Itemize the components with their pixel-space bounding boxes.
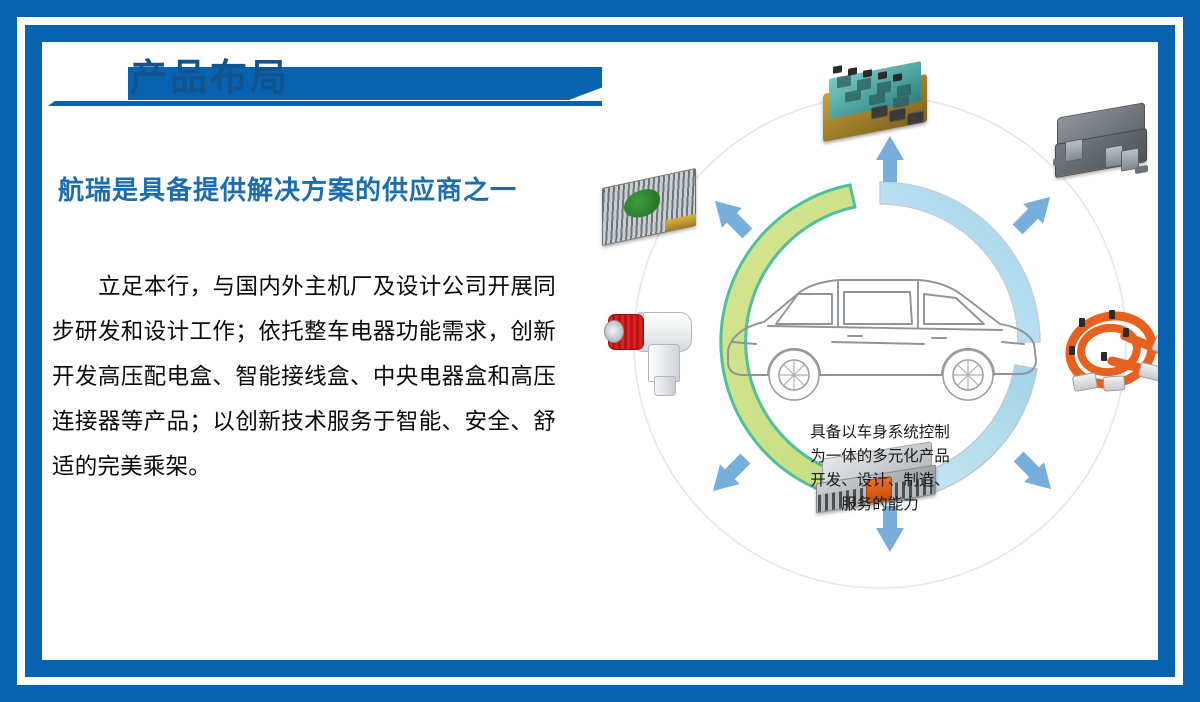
arrow-up-icon bbox=[876, 136, 904, 182]
slide-canvas: 产品布局 航瑞是具备提供解决方案的供应商之一 立足本行，与国内外主机厂及设计公司… bbox=[42, 42, 1158, 660]
diagram-center-caption: 具备以车身系统控制 为一体的多元化产品 开发、设计、制造、 服务的能力 bbox=[770, 420, 990, 516]
page-title: 产品布局 bbox=[130, 47, 290, 101]
product-finned-ecu-module bbox=[596, 164, 706, 250]
product-junction-box bbox=[1047, 100, 1158, 192]
section-subtitle: 航瑞是具备提供解决方案的供应商之一 bbox=[58, 170, 517, 207]
body-paragraph: 立足本行，与国内外主机厂及设计公司开展同步研发和设计工作；依托整车电器功能需求，… bbox=[52, 265, 556, 490]
product-layout-diagram: 具备以车身系统控制 为一体的多元化产品 开发、设计、制造、 服务的能力 bbox=[532, 42, 1158, 660]
arc-top-right bbox=[880, 182, 1040, 342]
product-relay-fuse-board bbox=[815, 60, 937, 140]
product-hv-cable-harness bbox=[1057, 294, 1158, 398]
slide-root: 产品布局 航瑞是具备提供解决方案的供应商之一 立足本行，与国内外主机厂及设计公司… bbox=[0, 0, 1200, 702]
title-underline bbox=[48, 101, 602, 106]
product-hv-connector bbox=[598, 300, 710, 404]
